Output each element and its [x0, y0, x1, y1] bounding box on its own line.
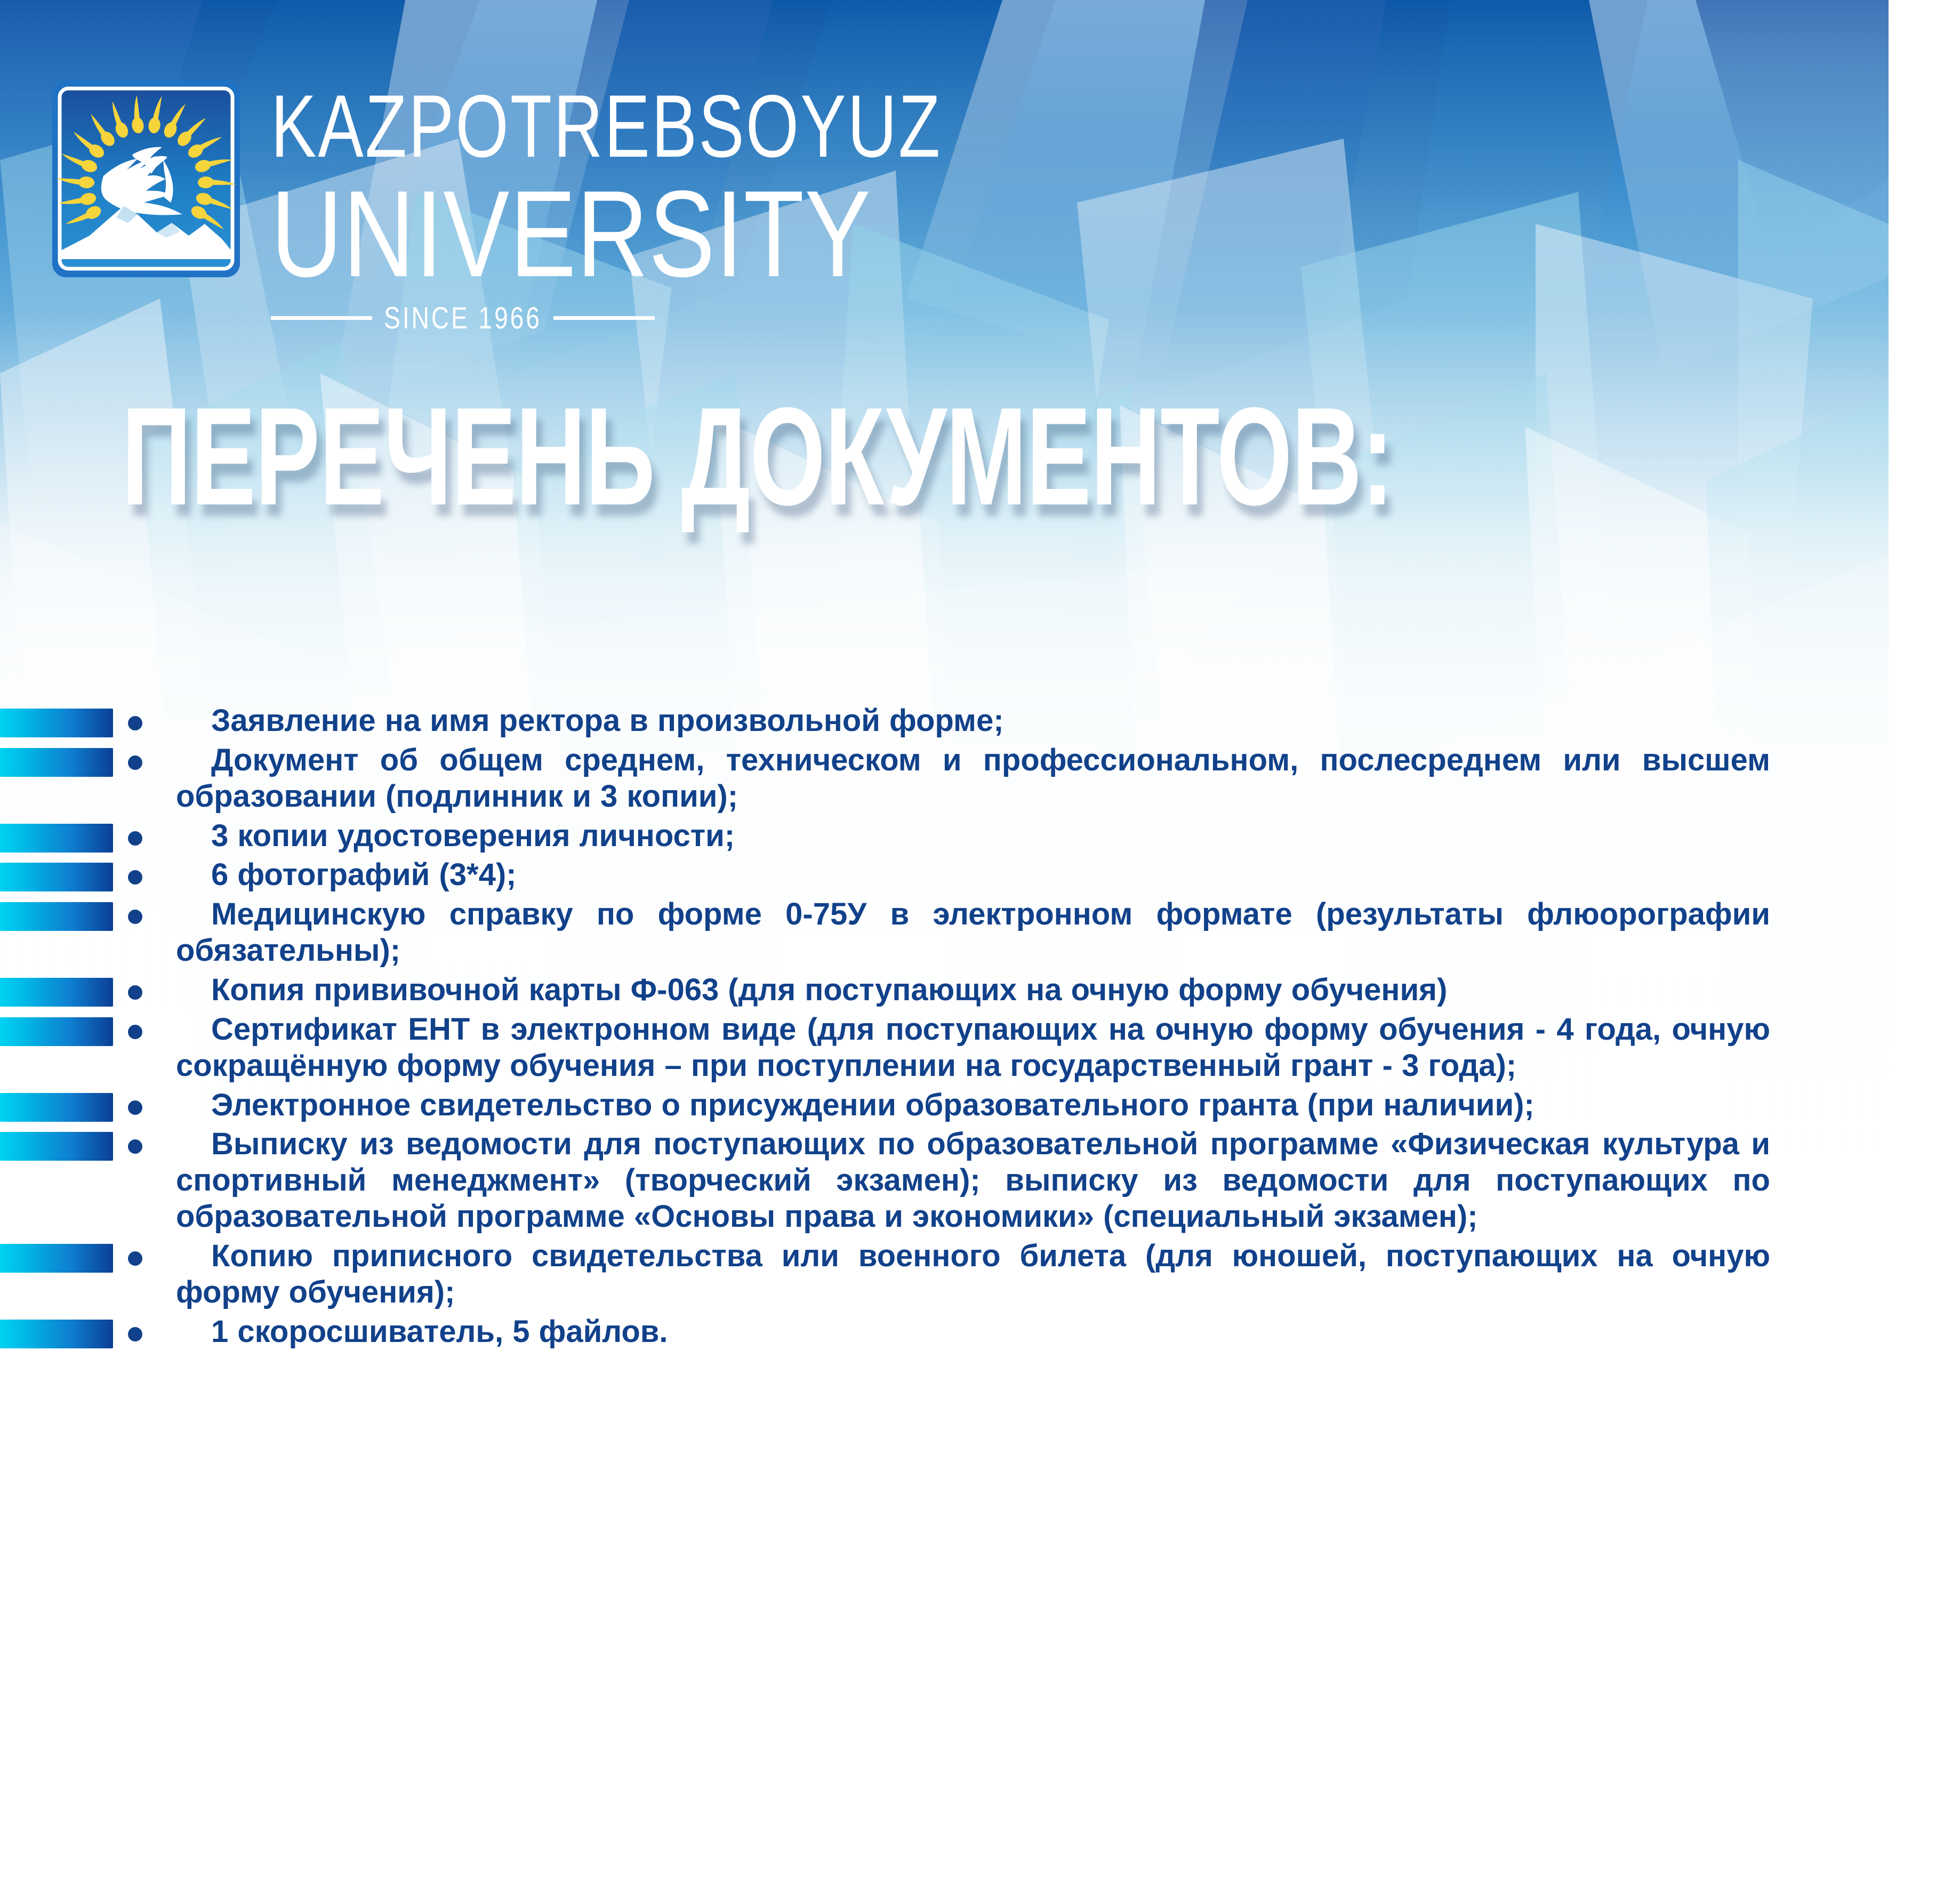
- bullet-bar-icon: [0, 1093, 113, 1122]
- bullet-dot-icon: [128, 1025, 142, 1039]
- bullet-dot-icon: [128, 755, 142, 770]
- bullet-dot-icon: [128, 831, 142, 846]
- brand-header: KAZPOTREBSOYUZ UNIVERSITY SINCE 1966: [52, 80, 942, 332]
- document-list-item: 6 фотографий (3*4);: [0, 857, 1960, 893]
- document-list-item: Копия прививочной карты Ф-063 (для посту…: [0, 972, 1960, 1008]
- document-item-text: Копию приписного свидетельства или военн…: [176, 1238, 1770, 1311]
- bullet-bar-icon: [0, 709, 113, 737]
- bullet-bar-icon: [0, 1132, 113, 1161]
- document-list: Заявление на имя ректора в произвольной …: [0, 703, 1960, 1353]
- document-list-item: Электронное свидетельство о присуждении …: [0, 1087, 1960, 1123]
- document-item-text: Выписку из ведомости для поступающих по …: [176, 1126, 1770, 1235]
- document-list-item: Сертификат ЕНТ в электронном виде (для п…: [0, 1011, 1960, 1084]
- wordmark: KAZPOTREBSOYUZ UNIVERSITY SINCE 1966: [271, 80, 942, 332]
- document-list-item: Медицинскую справку по форме 0-75У в эле…: [0, 896, 1960, 969]
- bullet-dot-icon: [128, 716, 142, 730]
- document-item-text: 6 фотографий (3*4);: [176, 857, 1770, 893]
- since-rule-right: [553, 316, 655, 320]
- bullet-bar-icon: [0, 1017, 113, 1046]
- since-label: SINCE 1966: [384, 300, 542, 336]
- bullet-dot-icon: [128, 1327, 142, 1341]
- document-list-item: Выписку из ведомости для поступающих по …: [0, 1126, 1960, 1235]
- document-item-text: 1 скоросшиватель, 5 файлов.: [176, 1314, 1770, 1350]
- bullet-bar-icon: [0, 902, 113, 931]
- bullet-bar-icon: [0, 863, 113, 891]
- document-list-item: Заявление на имя ректора в произвольной …: [0, 703, 1960, 739]
- document-item-text: Копия прививочной карты Ф-063 (для посту…: [176, 972, 1770, 1008]
- document-item-text: Медицинскую справку по форме 0-75У в эле…: [176, 896, 1770, 969]
- brand-name-top: KAZPOTREBSOYUZ: [271, 85, 942, 168]
- document-item-text: Документ об общем среднем, техническом и…: [176, 742, 1770, 815]
- bullet-dot-icon: [128, 1139, 142, 1154]
- bullet-bar-icon: [0, 824, 113, 853]
- bullet-dot-icon: [128, 1251, 142, 1266]
- document-item-text: Электронное свидетельство о присуждении …: [176, 1087, 1770, 1123]
- since-row: SINCE 1966: [271, 303, 655, 332]
- document-list-item: 1 скоросшиватель, 5 файлов.: [0, 1314, 1960, 1350]
- bullet-bar-icon: [0, 748, 113, 777]
- document-list-item: Копию приписного свидетельства или военн…: [0, 1238, 1960, 1311]
- document-list-item: Документ об общем среднем, техническом и…: [0, 742, 1960, 815]
- page-title: ПЕРЕЧЕНЬ ДОКУМЕНТОВ:: [122, 376, 1393, 537]
- document-item-text: Сертификат ЕНТ в электронном виде (для п…: [176, 1011, 1770, 1084]
- poster-root: KAZPOTREBSOYUZ UNIVERSITY SINCE 1966 ПЕР…: [0, 0, 1960, 1889]
- bullet-dot-icon: [128, 1100, 142, 1115]
- document-item-text: Заявление на имя ректора в произвольной …: [176, 703, 1770, 739]
- bullet-bar-icon: [0, 1244, 113, 1273]
- document-item-text: 3 копии удостоверения личности;: [176, 818, 1770, 854]
- bullet-dot-icon: [128, 985, 142, 1000]
- kazpotrebsoyuz-crest-icon: [52, 80, 240, 277]
- brand-name-bottom: UNIVERSITY: [271, 177, 942, 293]
- document-list-item: 3 копии удостоверения личности;: [0, 818, 1960, 854]
- bullet-bar-icon: [0, 1320, 113, 1348]
- bullet-bar-icon: [0, 978, 113, 1007]
- bullet-dot-icon: [128, 910, 142, 924]
- bullet-dot-icon: [128, 870, 142, 885]
- since-rule-left: [271, 316, 372, 320]
